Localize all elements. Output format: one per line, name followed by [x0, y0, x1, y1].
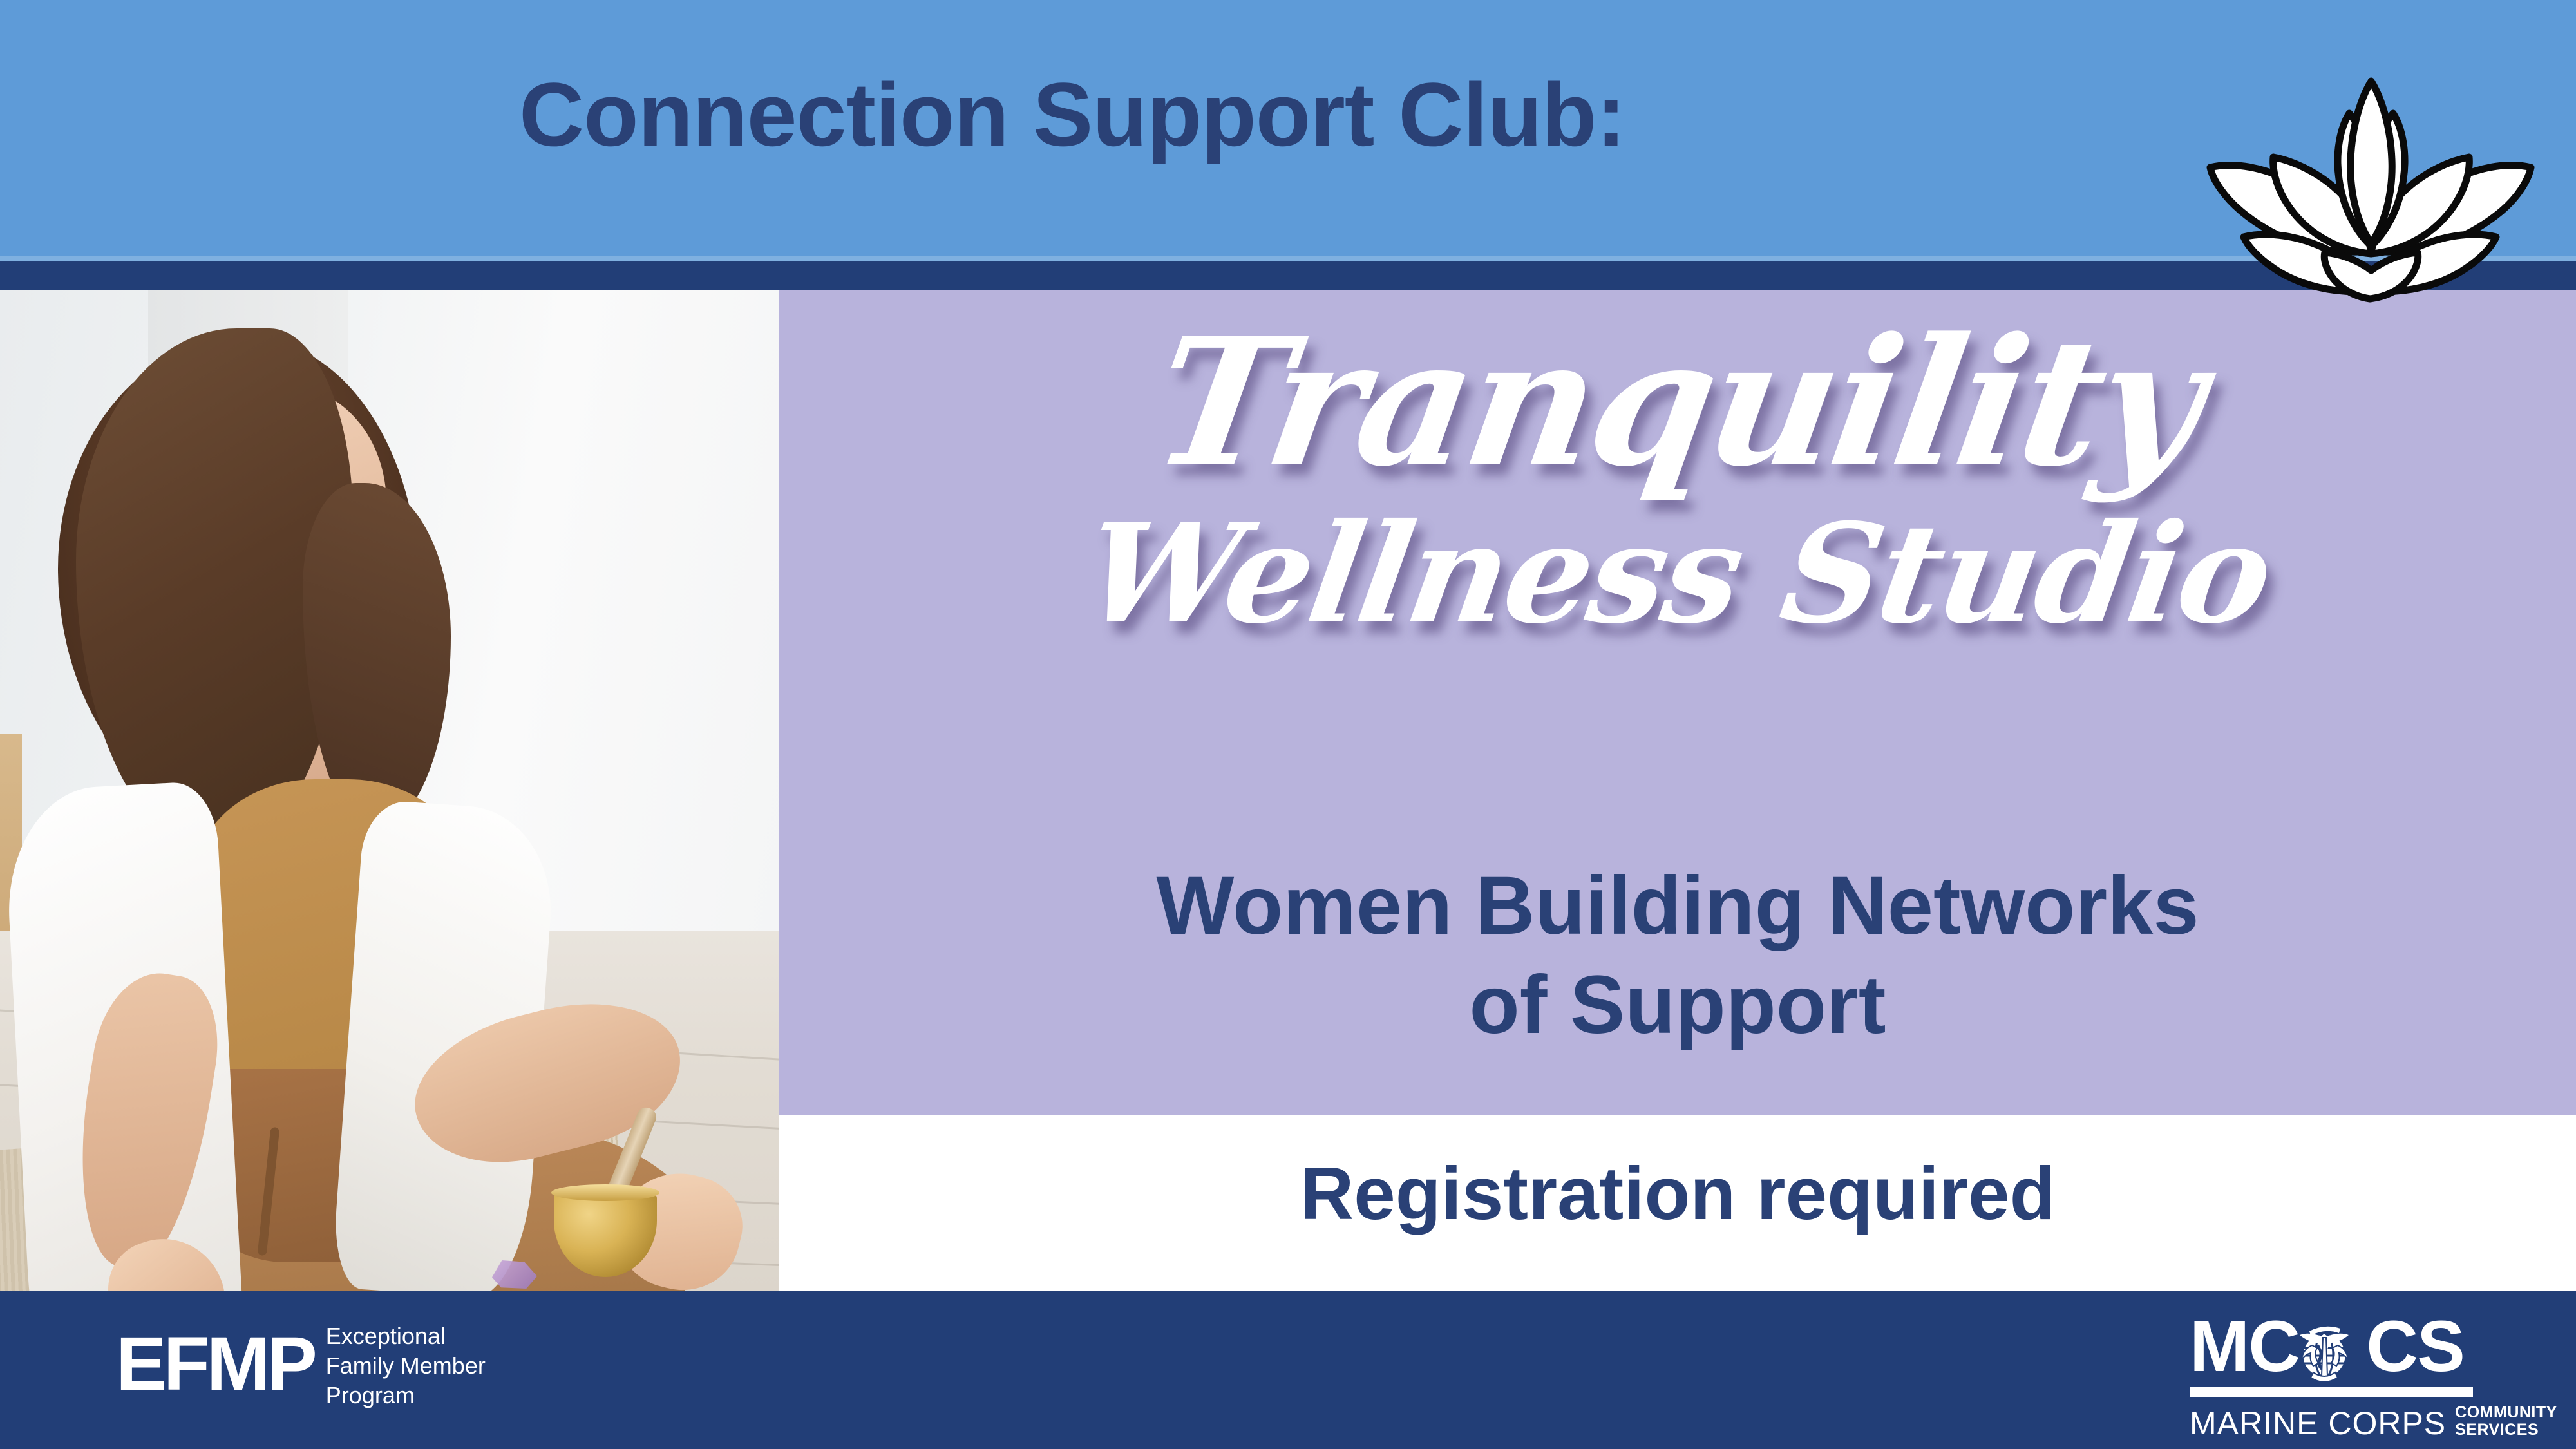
mccs-divider-bar — [2190, 1387, 2473, 1397]
efmp-full-name: Exceptional Family Member Program — [326, 1318, 486, 1410]
singing-bowl-rim — [551, 1184, 659, 1201]
header-rule — [0, 256, 2576, 261]
subtitle: Women Building Networks of Support — [779, 857, 2576, 1054]
mccs-marine-corps: MARINE CORPS — [2190, 1407, 2446, 1439]
page-title: Connection Support Club: — [0, 67, 2145, 162]
mccs-community-services: COMMUNITY SERVICES — [2455, 1404, 2557, 1439]
mccs-community: COMMUNITY — [2455, 1404, 2557, 1421]
lotus-flower-icon — [2202, 39, 2537, 309]
mccs-logo: MCCS — [2190, 1311, 2473, 1439]
flyer-canvas: Connection Support Club: — [0, 0, 2576, 1449]
mccs-lettermark: MCCS — [2190, 1311, 2473, 1383]
mccs-letters-left: MC — [2190, 1306, 2299, 1387]
subtitle-line-1: Women Building Networks — [779, 857, 2576, 956]
efmp-line-2: Family Member — [326, 1351, 486, 1381]
registration-notice: Registration required — [779, 1150, 2576, 1236]
eagle-globe-anchor-icon — [2284, 1308, 2365, 1385]
mccs-services: SERVICES — [2455, 1421, 2557, 1439]
meditation-photo — [0, 290, 779, 1291]
header-navy-bar — [0, 261, 2576, 290]
mccs-letters-right: CS — [2366, 1306, 2464, 1387]
subtitle-line-2: of Support — [779, 956, 2576, 1055]
mccs-tagline: MARINE CORPS COMMUNITY SERVICES — [2190, 1404, 2473, 1439]
efmp-logo: EFMP Exceptional Family Member Program — [116, 1318, 486, 1410]
efmp-line-3: Program — [326, 1381, 486, 1410]
efmp-wordmark: EFMP — [116, 1326, 314, 1402]
efmp-line-1: Exceptional — [326, 1321, 486, 1351]
